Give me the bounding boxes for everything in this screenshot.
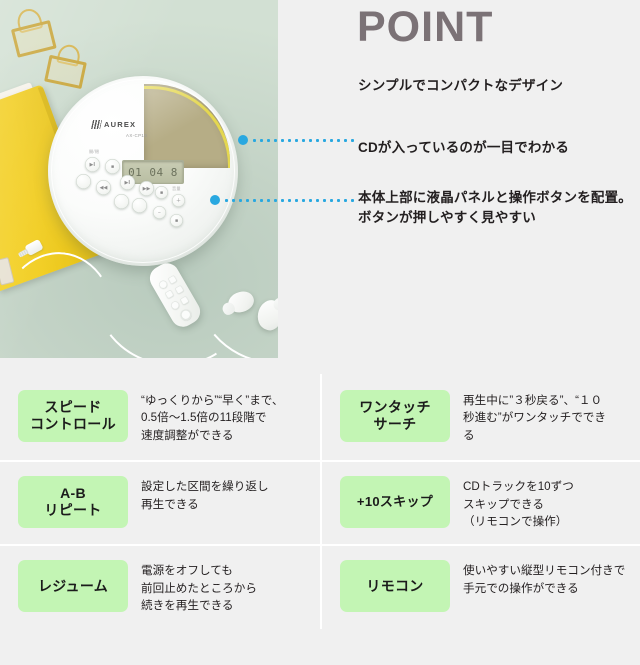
table-row: A-B リピート 設定した区間を繰り返し 再生できる +10スキップ CDトラッ… [0, 460, 640, 544]
model-number: AX-CP10 [126, 133, 147, 138]
open-close-button[interactable]: ▶‖ [85, 157, 100, 172]
feature-badge: A-B リピート [18, 476, 128, 528]
feature-badge: ワンタッチ サーチ [340, 390, 450, 442]
table-row: スピード コントロール “ゆっくりから”“早く”まで、 0.5倍～1.5倍の11… [0, 374, 640, 460]
play-pause-button[interactable]: ▶‖ [120, 175, 135, 190]
volume-minus-button[interactable]: − [153, 206, 166, 219]
point-title: POINT [357, 6, 493, 49]
feature-badge: レジューム [18, 560, 128, 612]
brand-name: AUREX [104, 120, 136, 129]
hero-bullet-control-panel: 本体上部に液晶パネルと操作ボタンを配置。 ボタンが押しやすく見やすい [358, 188, 632, 227]
open-close-label: 開/閉 [89, 149, 99, 155]
feature-badge: リモコン [340, 560, 450, 612]
power-button[interactable]: ■ [170, 214, 183, 227]
lcd-value: 01 04 8 [128, 166, 178, 179]
remote-button[interactable] [170, 300, 181, 311]
connector-line-control-panel [210, 195, 356, 205]
eq-button[interactable] [132, 198, 147, 213]
volume-label: 音量 [172, 186, 181, 192]
feature-description: 設定した区間を繰り返し 再生できる [128, 476, 310, 513]
cd-player-device: AUREX AX-CP10 01 04 8 開/閉 音量 ▶‖ ■ ◀◀ ▶‖ … [48, 76, 238, 266]
table-row: レジューム 電源をオフしても 前回止めたところから 続きを再生できる リモコン … [0, 544, 640, 628]
remote-button[interactable] [175, 285, 185, 295]
feature-speed-control: スピード コントロール “ゆっくりから”“早く”まで、 0.5倍～1.5倍の11… [0, 374, 320, 460]
connector-dashes [223, 199, 356, 202]
prev-button[interactable]: ◀◀ [96, 180, 111, 195]
connector-line-cd-window [238, 135, 356, 145]
hero-bullet-design: シンプルでコンパクトなデザイン [358, 74, 563, 94]
remote-jog-dial[interactable] [178, 307, 193, 322]
hero-bullet-cd-window: CDが入っているのが一目でわかる [358, 136, 569, 156]
connector-dot-icon [238, 135, 248, 145]
mode-button[interactable] [76, 174, 91, 189]
remote-button[interactable] [165, 289, 175, 299]
feature-table: スピード コントロール “ゆっくりから”“早く”まで、 0.5倍～1.5倍の11… [0, 374, 640, 665]
program-button[interactable] [114, 194, 129, 209]
hero-section: AUREX AX-CP10 01 04 8 開/閉 音量 ▶‖ ■ ◀◀ ▶‖ … [0, 0, 640, 358]
remote-button[interactable] [158, 279, 169, 290]
feature-description: CDトラックを10ずつ スキップできる （リモコンで操作） [450, 476, 630, 530]
cd-view-window [144, 84, 230, 168]
feature-remote: リモコン 使いやすい縦型リモコン付きで 手元での操作ができる [320, 546, 640, 628]
connector-dashes [251, 139, 356, 142]
feature-plus-10-skip: +10スキップ CDトラックを10ずつ スキップできる （リモコンで操作） [320, 462, 640, 544]
product-photo: AUREX AX-CP10 01 04 8 開/閉 音量 ▶‖ ■ ◀◀ ▶‖ … [0, 0, 278, 358]
feature-badge: スピード コントロール [18, 390, 128, 442]
next-button[interactable]: ▶▶ [139, 181, 154, 196]
aurex-mark-icon [91, 120, 102, 129]
feature-one-touch-search: ワンタッチ サーチ 再生中に”３秒戻る”、“１０ 秒進む”がワンタッチででき る [320, 374, 640, 460]
point-feature-page: AUREX AX-CP10 01 04 8 開/閉 音量 ▶‖ ■ ◀◀ ▶‖ … [0, 0, 640, 665]
remote-button[interactable] [168, 275, 178, 285]
feature-resume: レジューム 電源をオフしても 前回止めたところから 続きを再生できる [0, 546, 320, 628]
feature-description: 電源をオフしても 前回止めたところから 続きを再生できる [128, 560, 310, 614]
stop-button[interactable]: ■ [105, 159, 120, 174]
volume-up-button[interactable]: ＋ [172, 194, 185, 207]
connector-dot-icon [210, 195, 220, 205]
feature-badge: +10スキップ [340, 476, 450, 528]
hold-button[interactable]: ■ [155, 186, 168, 199]
feature-ab-repeat: A-B リピート 設定した区間を繰り返し 再生できる [0, 462, 320, 544]
feature-description: “ゆっくりから”“早く”まで、 0.5倍～1.5倍の11段階で 速度調整ができる [128, 390, 310, 444]
brand-logo: AUREX [92, 120, 136, 129]
feature-description: 使いやすい縦型リモコン付きで 手元での操作ができる [450, 560, 630, 597]
feature-description: 再生中に”３秒戻る”、“１０ 秒進む”がワンタッチででき る [450, 390, 630, 444]
remote-button[interactable] [180, 296, 190, 306]
